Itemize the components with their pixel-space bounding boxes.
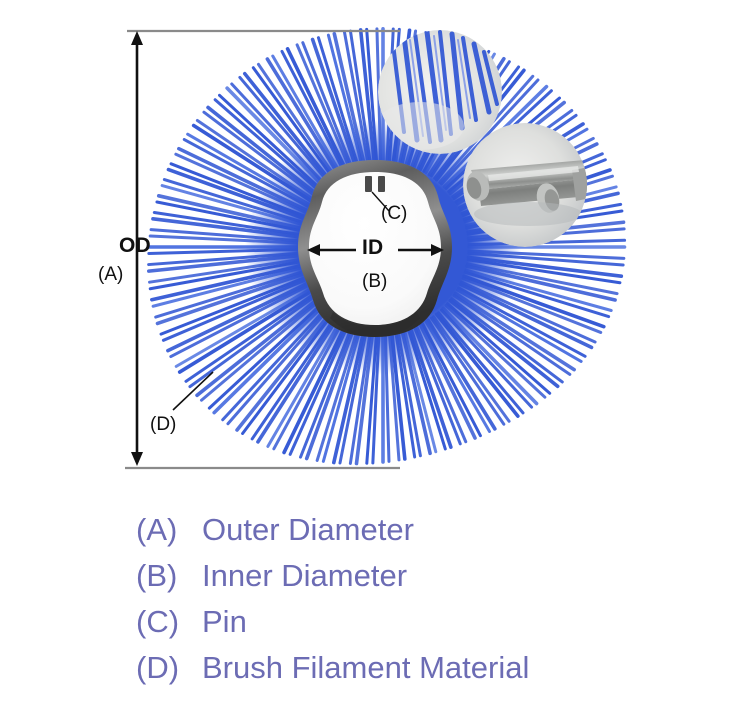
legend-row: (D) Brush Filament Material [136, 650, 726, 696]
id-label: ID [362, 236, 383, 260]
legend-row: (B) Inner Diameter [136, 558, 726, 604]
legend-key: (D) [136, 650, 202, 686]
legend-row: (A) Outer Diameter [136, 512, 726, 558]
diagram-page: OD (A) (D) ID (B) (C) (A) Outer Diameter… [0, 0, 750, 715]
brush-diagram: OD (A) (D) ID (B) (C) [0, 0, 750, 492]
legend-key: (A) [136, 512, 202, 548]
callout-c-pin: (C) [381, 203, 407, 225]
legend-label: Brush Filament Material [202, 650, 529, 686]
callout-b-inner-diameter: (B) [362, 271, 387, 293]
legend: (A) Outer Diameter (B) Inner Diameter (C… [136, 512, 726, 696]
legend-row: (C) Pin [136, 604, 726, 650]
callout-d-filament: (D) [150, 414, 176, 436]
legend-label: Inner Diameter [202, 558, 407, 594]
legend-label: Outer Diameter [202, 512, 414, 548]
legend-key: (C) [136, 604, 202, 640]
callout-a-outer-diameter: (A) [98, 264, 123, 286]
legend-key: (B) [136, 558, 202, 594]
od-label: OD [119, 234, 151, 258]
legend-label: Pin [202, 604, 247, 640]
